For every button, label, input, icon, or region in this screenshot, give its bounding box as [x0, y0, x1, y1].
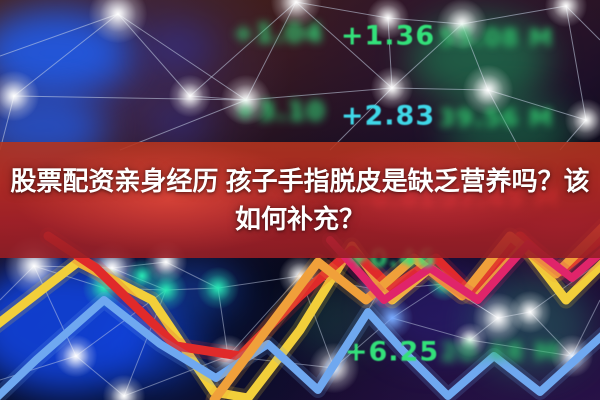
ticker-value: 55.08 M [438, 24, 553, 52]
ticker-value: +2.83 [341, 101, 435, 132]
banner-image: +1.04+1.3655.08 M+3.10+2.8339.56 M-8.813… [0, 0, 600, 400]
ticker-value: +6.25 [345, 337, 439, 368]
ticker-value: +1.36 [341, 21, 435, 52]
ticker-value: +3.10 [235, 97, 326, 127]
ticker-value: 39.56 M [438, 104, 553, 132]
ticker-value: 20.48 M [440, 338, 560, 367]
headline-text: 股票配资亲身经历 孩子手指脱皮是缺乏营养吗？该 如何补充？ [0, 142, 600, 258]
headline-line-1: 股票配资亲身经历 孩子手指脱皮是缺乏营养吗？该 [10, 162, 589, 200]
headline-line-2: 如何补充？ [235, 200, 365, 238]
ticker-value: +1.04 [233, 19, 324, 49]
